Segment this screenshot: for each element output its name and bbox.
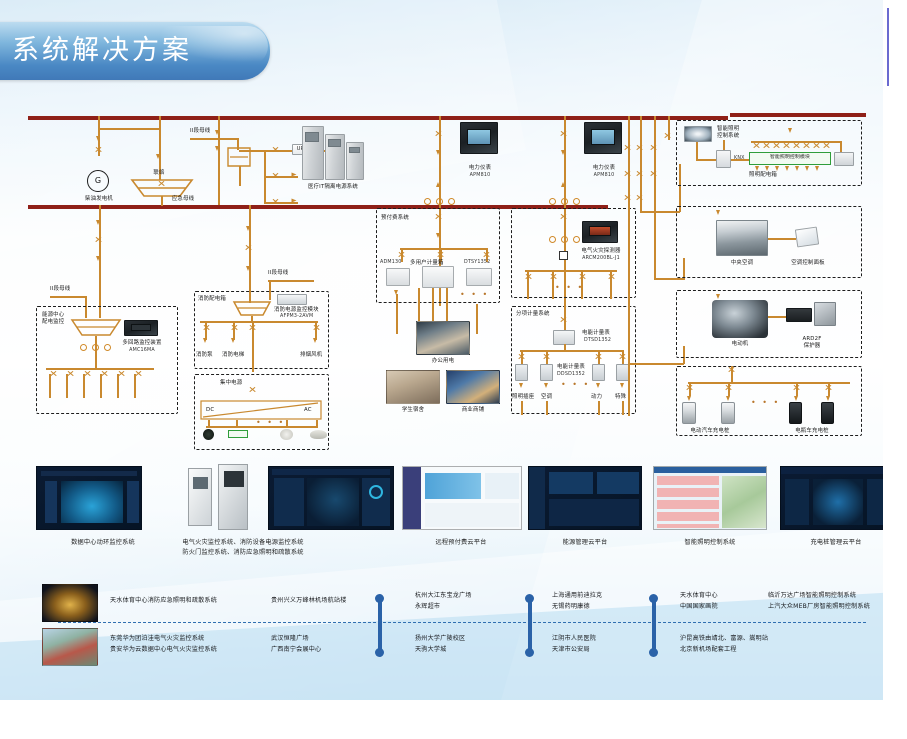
label-lighting-panel: 照明配电箱 (733, 172, 793, 179)
label-prepay-system: 预付费系统 (381, 215, 409, 222)
wire-prepay-o5 (476, 304, 478, 334)
switch-ev-4 (825, 384, 832, 391)
breaker-sub-3 (596, 383, 600, 388)
ac-panel-device (795, 227, 819, 248)
case-text-top-3: 上海通用前迪拉克 无锡药明康德 (552, 591, 682, 612)
switch-lm-i2 (763, 142, 770, 149)
transformer-symbol-3 (70, 318, 122, 338)
wire-cp-l1 (208, 420, 210, 428)
ct-m2-3 (573, 198, 580, 205)
label-central-power: 集中电源 (220, 380, 242, 387)
ct-arc-3 (573, 236, 580, 243)
breaker-ev-3 (794, 396, 798, 401)
page-title: 系统解决方案 (12, 28, 192, 67)
breaker-tie (156, 154, 160, 159)
breaker-feeder-a (215, 130, 219, 135)
label-load-lighting: 照明插座 (512, 394, 534, 401)
case-text-top-5: 临沂万达广场智能照明控制系统 上汽大众MEB厂房智能照明控制系统 (768, 591, 883, 612)
wire-arc-f2 (552, 271, 554, 299)
photo-office (416, 321, 470, 355)
breaker-fire-2 (246, 266, 250, 271)
ellipsis-arc: • • • (555, 283, 584, 292)
gallery-caption-5: 充电桩管理云平台 (761, 538, 883, 548)
label-lighting-control-system: 智能照明 控制系统 (717, 126, 739, 141)
label-ebike-pile: 电瓶车充电桩 (780, 428, 844, 435)
ev-pile-1 (682, 402, 696, 424)
breaker-lm-o6 (805, 166, 809, 171)
switch-prepay-2 (437, 251, 444, 258)
switch-r3a (650, 144, 657, 151)
case-text-bottom-3: 江阴市人民医院 天津市公安局 (552, 634, 682, 655)
switch-prepay-3 (483, 251, 490, 258)
wire-lcs-down (696, 142, 698, 160)
wire-busII-b (50, 296, 86, 298)
wire-knx-to-module (731, 159, 749, 161)
wire-r3-down (654, 204, 656, 280)
exit-sign-icon (228, 430, 248, 438)
wire-motor-prot (768, 316, 786, 318)
breaker-sub-2 (544, 383, 548, 388)
switch-ec-b1 (50, 370, 57, 377)
breaker-lm-o3 (775, 166, 779, 171)
generator-symbol: G (87, 170, 109, 192)
label-protector: ARD2F 保护器 (784, 336, 840, 351)
wire-busII-a-drop (239, 166, 241, 186)
switch-ec-b6 (135, 370, 142, 377)
label-energy-meter-main: 电能计量表 (582, 330, 610, 337)
emergency-light-icon-2 (280, 429, 293, 440)
breaker-lm-o5 (795, 166, 799, 171)
label-student-dorm: 学生宿舍 (386, 407, 440, 414)
switch-lm-i3 (773, 142, 780, 149)
ct-ec-3 (104, 344, 111, 351)
label-ev-pile: 电动汽车充电桩 (678, 428, 742, 435)
case-text-bottom-4: 沪昆高铁由靖北、富源、嵩明站 北京新机场配套工程 (680, 634, 870, 655)
label-dc: DC (206, 407, 214, 414)
label-power-meter-1: 电力仪表 (452, 165, 508, 172)
breaker-ups-3 (292, 199, 297, 203)
central-ac-device (716, 220, 768, 256)
breaker-m2-1 (561, 150, 565, 155)
right-page-margin (883, 0, 907, 739)
wire-busII-a (190, 138, 238, 140)
breaker-motor (716, 294, 720, 299)
ct-ec-1 (80, 344, 87, 351)
case-connector-3 (652, 598, 656, 654)
label-emergency-bus: 应急母线 (158, 196, 208, 203)
switch-ec-b3 (84, 370, 91, 377)
breaker-lm-o2 (765, 166, 769, 171)
wire-arc-bus (525, 270, 617, 272)
switch-r2c (636, 194, 643, 201)
wire-cp-l3 (286, 420, 288, 428)
label-energy-meter-sub: 电能计量表 (546, 364, 596, 371)
wire-fire-f2 (233, 322, 235, 340)
breaker-ups-2 (292, 173, 297, 177)
label-bus-ii-a: II段母线 (190, 128, 210, 135)
wire-ec-f2 (66, 374, 68, 398)
breaker-lm-o7 (815, 166, 819, 171)
wire-fire-f1 (205, 322, 207, 340)
switch-central-power (249, 386, 256, 393)
gallery-thumb-3[interactable] (402, 466, 522, 530)
ct-m2-2 (561, 198, 568, 205)
case-photo-bottom (42, 628, 98, 666)
page-edge-rule (887, 8, 889, 86)
switch-lm-i1 (753, 142, 760, 149)
energy-meter-main-device (553, 330, 575, 345)
wire-ev-drop (731, 366, 733, 382)
switch-prepay-1 (398, 251, 405, 258)
wire-sub-out1 (521, 401, 523, 415)
case-divider (58, 622, 866, 623)
wire-sub-drop (564, 344, 566, 352)
wire-arc-f3 (581, 271, 583, 299)
system-single-line-diagram: G 柴油发电机 联络 应急母线 II段母线 (28, 108, 866, 453)
wire-busII-c (268, 280, 314, 282)
case-dot-2-bottom (525, 648, 534, 657)
prepay-device-2 (422, 266, 454, 288)
lighting-panel-device (834, 152, 854, 166)
wire-ec-f5 (117, 374, 119, 398)
label-submetering-system: 分项计量系统 (516, 311, 550, 318)
busbar-top (28, 116, 728, 120)
label-fire-pump: 消防泵 (196, 352, 213, 359)
breaker-ev-1 (687, 396, 691, 401)
switch-lm-i6 (803, 142, 810, 149)
label-multi-loop-device: 多回路监控装置 (118, 340, 166, 347)
wire-arc-f4 (610, 271, 612, 299)
case-text-top-0: 天水体育中心消防应急照明和疏散系统 (110, 596, 280, 607)
energy-meter-sub-1 (515, 364, 528, 381)
label-multi-loop-model: AMC16MA (118, 348, 166, 354)
switch-gen-1 (95, 146, 102, 153)
emergency-light-icon-1 (203, 429, 214, 440)
wire-ec-drop (95, 336, 97, 368)
power-meter-2 (584, 122, 622, 154)
switch-sub-main (560, 316, 567, 323)
switch-r1c (624, 194, 631, 201)
ellipsis-prepay: • • • (460, 290, 489, 299)
label-prepay-dev-3: DTSY1352 (464, 260, 490, 266)
case-dot-1-top (375, 594, 384, 603)
breaker-gen-1 (96, 136, 100, 141)
switch-r2a (636, 144, 643, 151)
switch-lm-i7 (813, 142, 820, 149)
wire-r2-turn (640, 211, 680, 213)
label-fire-elevator: 消防电梯 (222, 352, 244, 359)
lighting-control-system-image (684, 126, 712, 142)
gallery-thumb-1[interactable] (188, 468, 212, 526)
switch-ups-3 (272, 198, 279, 205)
breaker-hvac (716, 210, 720, 215)
gallery-thumb-4[interactable] (528, 466, 642, 530)
label-bus-ii-c: II段母线 (268, 270, 288, 277)
label-generator: 柴油发电机 (74, 196, 124, 203)
breaker-lm-o1 (755, 166, 759, 171)
switch-r1a (624, 144, 631, 151)
ct-m1-3 (448, 198, 455, 205)
knx-device (716, 150, 731, 168)
ct-m1-1 (424, 198, 431, 205)
ct-m2-1 (549, 198, 556, 205)
wire-gen-top (98, 128, 160, 130)
switch-sub-1 (518, 353, 525, 360)
breaker-sub-4 (620, 383, 624, 388)
switch-r1b (624, 170, 631, 177)
label-energy-meter-sub-model: DDSD1352 (546, 372, 596, 378)
gallery-thumb-0[interactable] (36, 466, 142, 530)
label-fire-power-model: AFPM3-2AVM (280, 314, 313, 320)
prepay-device-1 (386, 268, 410, 286)
switch-r2b (636, 170, 643, 177)
wire-r3-turn (654, 278, 684, 280)
breaker-lm-o4 (785, 166, 789, 171)
gallery-thumb-2[interactable] (268, 466, 394, 530)
prepay-device-3 (466, 268, 492, 286)
wire-ec-f3 (83, 374, 85, 398)
switch-lm-i4 (783, 142, 790, 149)
medical-cabinet-1 (302, 126, 324, 180)
wire-ups-branch (239, 150, 265, 152)
wire-ec-f6 (134, 374, 136, 398)
label-energy-meter-main-model: DTSD1352 (584, 338, 611, 344)
label-arc-detector: 电气火灾探测器 (570, 248, 632, 255)
photo-shop (446, 370, 500, 404)
wire-sub-out2 (546, 401, 548, 415)
switch-ev-2 (725, 384, 732, 391)
label-ac-panel: 空调控制面板 (780, 260, 836, 267)
gallery-thumb-1b[interactable] (218, 464, 248, 530)
label-central-ac: 中央空调 (716, 260, 768, 267)
busbar-top-right (730, 113, 866, 117)
arc-detector-device (582, 221, 618, 243)
wire-sub-out4 (622, 401, 624, 415)
emergency-light-icon-3 (310, 430, 327, 439)
fire-power-module-device (277, 294, 307, 305)
ebike-pile-1 (789, 402, 802, 424)
ct-m1-2 (436, 198, 443, 205)
switch-m1-1 (435, 130, 442, 137)
medical-cabinet-3 (346, 142, 364, 180)
bottom-page-margin (0, 700, 907, 739)
wire-sub-out3 (598, 401, 600, 415)
motor-device (712, 300, 768, 338)
label-smoke-fan: 排烟风机 (300, 352, 322, 359)
switch-ec-1 (95, 236, 102, 243)
label-load-power: 动力 (591, 394, 602, 401)
switch-m2-1 (560, 130, 567, 137)
label-commercial-shop: 商业商铺 (446, 407, 500, 414)
switch-tie (158, 180, 165, 187)
arc-ct-ring-icon (559, 251, 568, 260)
wire-fire-f4 (315, 322, 317, 340)
label-office-power: 办公用电 (416, 358, 470, 365)
breaker-m1-2 (436, 182, 440, 187)
wire-fire-f3 (252, 322, 254, 372)
wire-sub-bus (520, 350, 624, 352)
wire-r3 (654, 116, 656, 212)
breaker-ec-1 (96, 220, 100, 225)
photo-dorm (386, 370, 440, 404)
wire-cp-l4 (316, 420, 318, 428)
wire-knx-up (723, 140, 725, 150)
protector-device-2 (814, 302, 836, 326)
switch-r3b (650, 170, 657, 177)
breaker-ev-2 (726, 396, 730, 401)
case-dot-3-bottom (649, 648, 658, 657)
medical-cabinet-2 (325, 134, 345, 180)
wire-cp-l2 (236, 420, 238, 428)
ct-arc-2 (561, 236, 568, 243)
label-power-meter-1-model: APM810 (452, 173, 508, 179)
ev-pile-2 (721, 402, 735, 424)
wire-prepay-o1 (396, 294, 398, 334)
switch-ups-2 (272, 172, 279, 179)
wire-lcs-knx (696, 159, 716, 161)
wire-fire-riser (249, 205, 251, 303)
breaker-m1-1 (436, 150, 440, 155)
gallery-caption-1: 电气火灾监控系统、消防设备电源监控系统 防火门监控系统、消防应急照明和疏散系统 (148, 538, 338, 558)
switch-sub-4 (619, 353, 626, 360)
label-load-special: 特殊 (615, 394, 626, 401)
label-medical-it: 医疗IT隔离电源系统 (290, 184, 376, 191)
ct-arc-1 (549, 236, 556, 243)
gallery-thumb-5[interactable] (653, 466, 767, 530)
case-photo-top (42, 584, 98, 622)
case-connector-2 (528, 598, 532, 654)
case-reference-section: 天水体育中心消防应急照明和疏散系统 贵州兴义万峰林机场航站楼 杭州大江东宝龙广场… (28, 578, 866, 668)
switch-ev-3 (793, 384, 800, 391)
wire-r1-turn (628, 363, 684, 365)
switch-ec-b2 (67, 370, 74, 377)
wire-ac-panel (768, 238, 796, 240)
label-bus-ii-b: II段母线 (50, 286, 70, 293)
wire-arc-f1 (527, 271, 529, 299)
case-dot-3-top (649, 594, 658, 603)
case-connector-1 (378, 598, 382, 654)
switch-sub-2 (543, 353, 550, 360)
breaker-prepay (436, 233, 440, 238)
switch-r4a (664, 132, 671, 139)
label-motor: 电动机 (712, 341, 768, 348)
label-lighting-module: 智能照明控制模块 (749, 155, 831, 161)
ellipsis-ev: • • • (751, 398, 780, 407)
wire-arc-drop (564, 260, 566, 272)
switch-sub-3 (595, 353, 602, 360)
product-screenshot-gallery: 数据中心动环监控系统 电气火灾监控系统、消防设备电源监控系统 防火门监控系统、消… (28, 462, 866, 562)
breaker-ec-2 (96, 256, 100, 261)
switch-lm-i8 (823, 142, 830, 149)
breaker-lm-in (788, 128, 792, 133)
breaker-ev-4 (826, 396, 830, 401)
ellipsis-sub: • • • (561, 380, 590, 389)
power-meter-1 (460, 122, 498, 154)
switch-lm-i5 (793, 142, 800, 149)
switch-fire-1 (245, 244, 252, 251)
switch-ec-b4 (101, 370, 108, 377)
label-prepay-dev-1: ADM130 (380, 260, 401, 266)
case-dot-2-top (525, 594, 534, 603)
label-energy-center: 能源中心 配电监控 (42, 312, 64, 327)
label-fire-panel: 消防配电箱 (198, 296, 226, 303)
breaker-feeder-a2 (215, 146, 219, 151)
label-ac: AC (304, 407, 312, 414)
wire-ec-f1 (49, 374, 51, 398)
breaker-fire-1 (246, 226, 250, 231)
wire-r1 (628, 116, 630, 416)
label-tie: 联络 (136, 170, 182, 177)
switch-ec-b5 (118, 370, 125, 377)
label-arc-detector-model: ARCM200BL-J1 (570, 256, 632, 262)
case-text-top-1: 贵州兴义万峰林机场航站楼 (271, 596, 421, 607)
ellipsis-central-power: • • • (256, 418, 285, 427)
case-text-bottom-2: 扬州大学广陵校区 天驹大学城 (415, 634, 535, 655)
slide-canvas: 系统解决方案 G 柴油发电机 联络 应急母线 II段母线 (0, 0, 883, 700)
switch-ev-1 (686, 384, 693, 391)
ct-ec-2 (92, 344, 99, 351)
case-text-top-2: 杭州大江东宝龙广场 永辉超市 (415, 591, 535, 612)
multi-loop-device (124, 320, 158, 336)
ebike-pile-2 (821, 402, 834, 424)
protector-device (786, 308, 812, 322)
gallery-thumb-6[interactable] (780, 466, 883, 530)
wire-ec-f4 (100, 374, 102, 398)
switch-ups-1 (272, 146, 279, 153)
wire-tie-riser (159, 116, 161, 174)
breaker-sub-1 (519, 383, 523, 388)
case-text-bottom-1: 武汉恒隆广场 广西南宁会展中心 (271, 634, 421, 655)
wire-fire-branchbus (200, 321, 318, 323)
case-dot-1-bottom (375, 648, 384, 657)
breaker-m2-2 (561, 182, 565, 187)
wire-prepay-bus (400, 248, 488, 250)
